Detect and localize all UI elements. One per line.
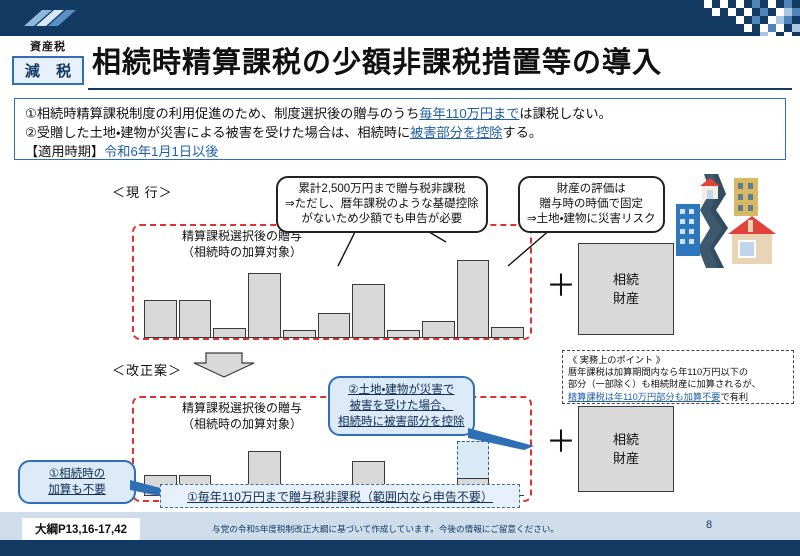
- section-label-revised: ＜改正案＞: [112, 360, 182, 379]
- header-bar: [0, 0, 800, 36]
- practice-point-line-2: 部分（一部除く）も相続財産に加算されるが、: [568, 378, 788, 390]
- chart-current-gifts: [144, 252, 524, 338]
- callout-no-addition-line-2: 加算も不要: [28, 482, 126, 498]
- chart-bar: [422, 321, 455, 338]
- chart-bar: [213, 328, 246, 338]
- callout-disaster-line-2: 被害を受けた場合、: [338, 398, 465, 414]
- callout-disaster-line-3: 相続時に被害部分を控除: [338, 414, 465, 430]
- plus-sign-current: ＋: [546, 272, 576, 302]
- page-title: 相続時精算課税の少額非課税措置等の導入: [92, 44, 792, 82]
- callout-no-addition-line-1: ①相続時の: [28, 466, 126, 482]
- estate-revised-line-2: 財産: [613, 449, 639, 468]
- practice-point-heading: 《 実務上のポイント 》: [568, 354, 788, 366]
- revised-caption-line-1: 精算課税選択後の贈与: [142, 400, 342, 416]
- summary-line-1-highlight: 毎年110万円まで: [419, 106, 519, 121]
- callout-valuation-line-3: ⇒土地・建物に災害リスク: [527, 212, 656, 227]
- practice-point-line-3: 精算課税は年110万円部分も加算不要で有利: [568, 391, 788, 403]
- estate-box-current: 相続 財産: [578, 243, 674, 335]
- summary-box: ①相続時精算課税制度の利用促進のため、制度選択後の贈与のうち毎年110万円までは…: [14, 98, 786, 160]
- callout-cumulative-line-2: ⇒ただし、暦年課税のような基礎控除: [285, 197, 479, 212]
- disaster-buildings-illustration-icon: [676, 168, 800, 272]
- callout-disaster-line-1: ②土地・建物が災害で: [338, 382, 465, 398]
- callout-no-addition: ①相続時の 加算も不要: [18, 460, 136, 504]
- summary-line-1: ①相続時精算課税制度の利用促進のため、制度選択後の贈与のうち毎年110万円までは…: [25, 104, 775, 123]
- chart-bar: [248, 273, 281, 338]
- swoosh-logo-icon: [22, 8, 78, 30]
- practice-point-line-1: 暦年課税は加算期間内なら年110万円以下の: [568, 366, 788, 378]
- callout-valuation-fixed: 財産の評価は 贈与時の時価で固定 ⇒土地・建物に災害リスク: [518, 176, 665, 233]
- callout-valuation-line-2: 贈与時の時価で固定: [527, 197, 656, 212]
- title-underline-rule: [88, 88, 792, 90]
- down-arrow-icon: [192, 352, 256, 378]
- exemption-banner-label: ①毎年110万円まで贈与税非課税（範囲内なら申告不要）: [187, 488, 493, 505]
- chart-bar: [457, 260, 490, 338]
- chart-bar: [352, 284, 385, 338]
- footer-reference-chip: 大綱P13,16-17,42: [22, 518, 140, 540]
- chart-bar: [491, 327, 524, 338]
- practice-point-line-3-tail: で有利: [720, 392, 748, 402]
- section-label-current: ＜現 行＞: [112, 182, 173, 201]
- callout-cumulative-line-1: 累計2,500万円まで贈与税非課税: [285, 182, 479, 197]
- practice-point-box: 《 実務上のポイント 》 暦年課税は加算期間内なら年110万円以下の 部分（一部…: [562, 350, 794, 404]
- summary-line-3-highlight: 令和6年1月1日以後: [104, 144, 218, 159]
- callout-disaster-deduction: ②土地・建物が災害で 被害を受けた場合、 相続時に被害部分を控除: [328, 376, 475, 436]
- callout-cumulative-exemption: 累計2,500万円まで贈与税非課税 ⇒ただし、暦年課税のような基礎控除 がないた…: [276, 176, 488, 233]
- summary-line-3-a: 【適用時期】: [25, 144, 104, 159]
- plus-sign-revised: ＋: [546, 428, 576, 458]
- callout-cumulative-line-3: がないため少額でも申告が必要: [285, 212, 479, 227]
- checkerboard-pattern-icon: [696, 0, 800, 44]
- chart-bar: [387, 330, 420, 338]
- summary-line-1-a: ①相続時精算課税制度の利用促進のため、制度選択後の贈与のうち: [25, 106, 419, 121]
- chart-bar: [144, 300, 177, 338]
- exemption-banner: ①毎年110万円まで贈与税非課税（範囲内なら申告不要）: [160, 484, 520, 508]
- summary-line-2-highlight: 被害部分を控除: [410, 125, 502, 140]
- category-tag: 資産税 減 税: [12, 40, 84, 85]
- summary-line-2: ②受贈した土地・建物が災害による被害を受けた場合は、相続時に被害部分を控除する。: [25, 123, 775, 142]
- estate-revised-line-1: 相続: [613, 430, 639, 449]
- chart-bar: [283, 330, 316, 338]
- estate-box-revised: 相続 財産: [578, 406, 674, 492]
- chart-bar: [179, 300, 212, 338]
- summary-line-2-b: する。: [502, 125, 542, 140]
- estate-current-line-1: 相続: [613, 270, 639, 289]
- slide-root: 資産税 減 税 相続時精算課税の少額非課税措置等の導入 ①相続時精算課税制度の利…: [0, 0, 800, 556]
- chart-bar: [318, 313, 351, 338]
- callout-valuation-line-1: 財産の評価は: [527, 182, 656, 197]
- summary-line-1-b: は課税しない。: [519, 106, 611, 121]
- summary-line-3: 【適用時期】令和6年1月1日以後: [25, 142, 775, 161]
- practice-point-line-3-highlight: 精算課税は年110万円部分も加算不要: [568, 392, 720, 402]
- summary-line-2-a: ②受贈した土地・建物が災害による被害を受けた場合は、相続時に: [25, 125, 410, 140]
- tag-kind-badge: 減 税: [12, 56, 84, 85]
- footer-note: 与党の令和5年度税制改正大綱に基づいて作成しています。今後の情報にご留意ください…: [212, 523, 559, 535]
- tag-category-label: 資産税: [12, 40, 84, 54]
- page-number: 8: [706, 519, 712, 531]
- estate-current-line-2: 財産: [613, 289, 639, 308]
